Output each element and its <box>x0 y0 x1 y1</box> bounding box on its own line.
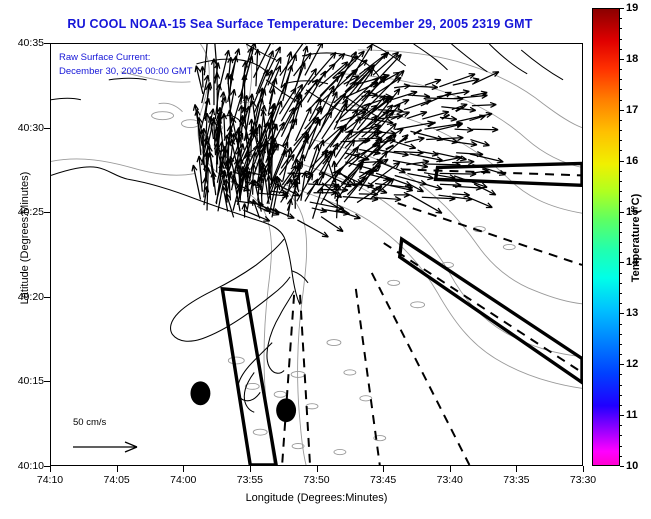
colorbar-minor-tick <box>620 344 622 345</box>
colorbar-minor-tick <box>620 262 622 263</box>
colorbar-minor-tick <box>620 201 622 202</box>
shipping-lanes <box>222 163 582 465</box>
colorbar-minor-tick <box>620 39 622 40</box>
x-tick-mark <box>250 466 251 472</box>
colorbar-minor-tick <box>620 69 622 70</box>
y-tick-label: 40:35 <box>8 37 44 49</box>
colorbar-minor-tick <box>620 212 622 213</box>
station-marker-1 <box>190 381 210 405</box>
colorbar-minor-tick <box>620 293 622 294</box>
colorbar-minor-tick <box>620 303 622 304</box>
colorbar-tick-label: 12 <box>626 358 638 370</box>
x-tick-mark <box>450 466 451 472</box>
colorbar-minor-tick <box>620 191 622 192</box>
colorbar-minor-tick <box>620 110 622 111</box>
colorbar-minor-tick <box>620 354 622 355</box>
colorbar-minor-tick <box>620 456 622 457</box>
colorbar-label: Temperature (°C) <box>630 158 642 318</box>
colorbar-minor-tick <box>620 8 622 9</box>
y-tick-label: 40:15 <box>8 375 44 387</box>
colorbar-minor-tick <box>620 252 622 253</box>
map-graphics <box>51 44 582 465</box>
colorbar-minor-tick <box>620 150 622 151</box>
colorbar-minor-tick <box>620 232 622 233</box>
colorbar-minor-tick <box>620 374 622 375</box>
annotation-line-2: December 30, 2005 00:00 GMT <box>59 66 193 77</box>
colorbar-minor-tick <box>620 161 622 162</box>
colorbar-minor-tick <box>620 273 622 274</box>
scale-legend: 50 cm/s <box>63 417 173 459</box>
x-axis-label: Longitude (Degrees:Minutes) <box>50 492 583 504</box>
colorbar-minor-tick <box>620 334 622 335</box>
y-tick-mark <box>44 466 50 467</box>
colorbar-minor-tick <box>620 181 622 182</box>
x-tick-mark <box>117 466 118 472</box>
colorbar-minor-tick <box>620 415 622 416</box>
colorbar-minor-tick <box>620 364 622 365</box>
station-marker-2 <box>276 398 296 422</box>
x-tick-label: 73:40 <box>437 474 463 486</box>
x-tick-label: 74:00 <box>170 474 196 486</box>
colorbar-minor-tick <box>620 395 622 396</box>
colorbar-minor-tick <box>620 28 622 29</box>
colorbar <box>592 8 620 466</box>
x-tick-label: 73:35 <box>503 474 529 486</box>
map-plot-area[interactable]: Raw Surface Current: December 30, 2005 0… <box>50 43 583 466</box>
annotation-line-1: Raw Surface Current: <box>59 52 150 63</box>
colorbar-minor-tick <box>620 79 622 80</box>
x-tick-mark <box>50 466 51 472</box>
figure: RU COOL NOAA-15 Sea Surface Temperature:… <box>0 0 651 519</box>
scale-arrow-icon <box>63 417 173 459</box>
y-tick-mark <box>44 43 50 44</box>
y-tick-label: 40:10 <box>8 460 44 472</box>
x-tick-label: 74:10 <box>37 474 63 486</box>
colorbar-tick-label: 19 <box>626 2 638 14</box>
figure-title: RU COOL NOAA-15 Sea Surface Temperature:… <box>0 17 600 31</box>
x-tick-label: 73:45 <box>370 474 396 486</box>
colorbar-minor-tick <box>620 425 622 426</box>
x-tick-label: 74:05 <box>103 474 129 486</box>
x-tick-label: 73:50 <box>303 474 329 486</box>
colorbar-minor-tick <box>620 171 622 172</box>
y-tick-mark <box>44 381 50 382</box>
colorbar-tick-label: 18 <box>626 53 638 65</box>
x-tick-mark <box>183 466 184 472</box>
colorbar-minor-tick <box>620 283 622 284</box>
x-tick-mark <box>516 466 517 472</box>
coastline <box>51 44 563 412</box>
surface-current-vectors <box>192 44 506 237</box>
colorbar-minor-tick <box>620 324 622 325</box>
colorbar-minor-tick <box>620 120 622 121</box>
colorbar-minor-tick <box>620 89 622 90</box>
colorbar-minor-tick <box>620 140 622 141</box>
colorbar-minor-tick <box>620 222 622 223</box>
colorbar-tick-label: 17 <box>626 104 638 116</box>
y-tick-mark <box>44 128 50 129</box>
colorbar-minor-tick <box>620 242 622 243</box>
colorbar-minor-tick <box>620 100 622 101</box>
colorbar-minor-tick <box>620 130 622 131</box>
colorbar-minor-tick <box>620 49 622 50</box>
x-tick-label: 73:30 <box>570 474 596 486</box>
y-axis-label: Latitude (Degrees:Minutes) <box>19 128 31 348</box>
colorbar-tick-label: 11 <box>626 409 638 421</box>
x-tick-label: 73:55 <box>237 474 263 486</box>
colorbar-minor-tick <box>620 446 622 447</box>
x-tick-mark <box>583 466 584 472</box>
y-tick-mark <box>44 212 50 213</box>
colorbar-minor-tick <box>620 405 622 406</box>
colorbar-minor-tick <box>620 59 622 60</box>
y-tick-mark <box>44 297 50 298</box>
colorbar-minor-tick <box>620 385 622 386</box>
colorbar-tick-label: 10 <box>626 460 638 472</box>
colorbar-minor-tick <box>620 435 622 436</box>
x-tick-mark <box>383 466 384 472</box>
x-tick-mark <box>317 466 318 472</box>
colorbar-minor-tick <box>620 18 622 19</box>
colorbar-minor-tick <box>620 466 622 467</box>
colorbar-minor-tick <box>620 313 622 314</box>
